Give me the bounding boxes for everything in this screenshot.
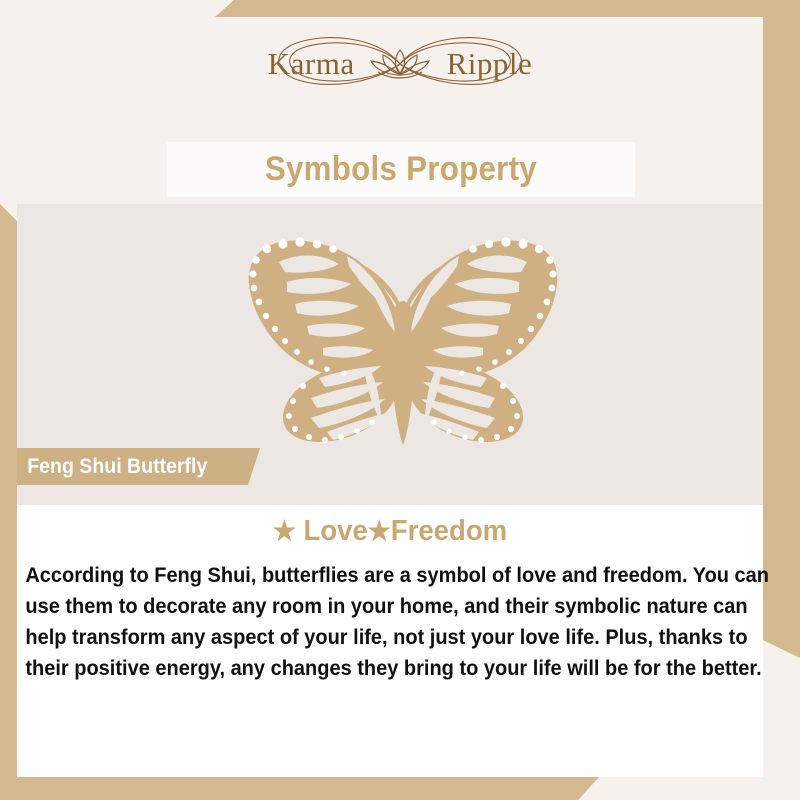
star-left-icon: ★ <box>273 516 296 546</box>
star-mid-icon: ★ <box>368 516 391 546</box>
butterfly-icon <box>223 226 583 456</box>
poster-canvas: Karma Ripple Symbols Property <box>0 0 800 800</box>
decor-band-left <box>0 204 17 800</box>
brand-wordmark: Karma Ripple <box>250 46 550 82</box>
decor-band-bottom <box>0 776 600 800</box>
content-panel: ★ Love★Freedom According to Feng Shui, b… <box>17 505 763 777</box>
brand-word-karma: Karma <box>268 46 355 82</box>
subhead-word-love: Love <box>296 515 368 547</box>
ribbon-label: Feng Shui Butterfly <box>17 455 207 479</box>
subhead-word-freedom: Freedom <box>391 515 507 547</box>
brand-word-ripple: Ripple <box>447 46 533 82</box>
ribbon-banner: Feng Shui Butterfly <box>17 448 260 485</box>
title-band: Symbols Property <box>167 142 635 197</box>
header: Karma Ripple <box>0 0 800 127</box>
body-paragraph: According to Feng Shui, butterflies are … <box>17 548 773 684</box>
page-title: Symbols Property <box>265 150 537 189</box>
content-subheading: ★ Love★Freedom <box>36 505 745 548</box>
brand-logo: Karma Ripple <box>250 28 550 100</box>
butterfly-image <box>223 226 583 456</box>
